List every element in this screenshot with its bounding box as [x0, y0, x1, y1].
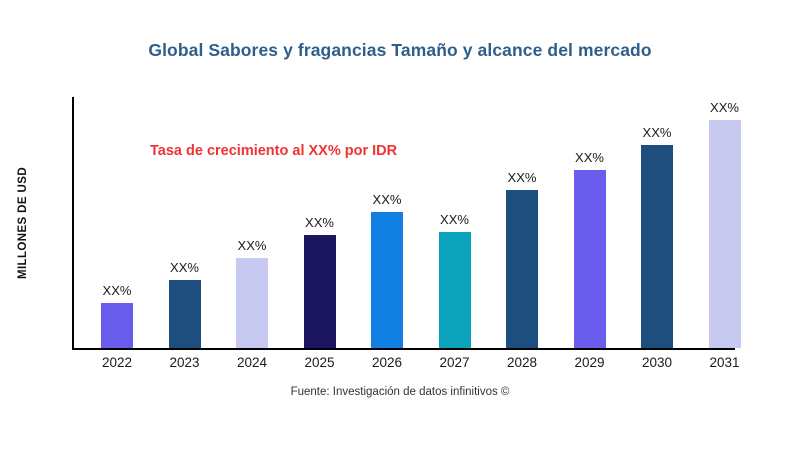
bar-chart-figure: Global Sabores y fragancias Tamaño y alc… [0, 0, 800, 450]
bar-rect[interactable] [304, 235, 336, 348]
bar-rect[interactable] [574, 170, 606, 348]
y-axis-label: MILLONES DE USD [14, 98, 32, 348]
bar-rect[interactable] [641, 145, 673, 348]
bar-value-label: XX% [238, 238, 267, 253]
bar-rect[interactable] [101, 303, 133, 348]
bar-value-label: XX% [575, 150, 604, 165]
bar-value-label: XX% [170, 260, 199, 275]
x-tick-2022: 2022 [87, 355, 147, 370]
x-tick-2024: 2024 [222, 355, 282, 370]
source-note: Fuente: Investigación de datos infinitiv… [0, 386, 800, 398]
bar-2026[interactable]: XX% [371, 212, 403, 348]
bar-2030[interactable]: XX% [641, 145, 673, 348]
bar-value-label: XX% [373, 192, 402, 207]
x-tick-2027: 2027 [425, 355, 485, 370]
x-axis-line [72, 348, 735, 350]
bar-value-label: XX% [508, 170, 537, 185]
bar-2022[interactable]: XX% [101, 303, 133, 348]
x-tick-2028: 2028 [492, 355, 552, 370]
plot-area: XX%XX%XX%XX%XX%XX%XX%XX%XX%XX% [72, 98, 788, 348]
x-tick-2025: 2025 [290, 355, 350, 370]
bar-rect[interactable] [371, 212, 403, 348]
x-tick-2031: 2031 [695, 355, 755, 370]
bar-2031[interactable]: XX% [709, 120, 741, 348]
x-tick-2029: 2029 [560, 355, 620, 370]
bar-value-label: XX% [440, 212, 469, 227]
bar-rect[interactable] [709, 120, 741, 348]
x-tick-2026: 2026 [357, 355, 417, 370]
growth-rate-annotation: Tasa de crecimiento al XX% por IDR [150, 143, 397, 159]
bar-value-label: XX% [305, 215, 334, 230]
y-axis-label-text: MILLONES DE USD [17, 167, 29, 279]
bar-value-label: XX% [643, 125, 672, 140]
bar-rect[interactable] [169, 280, 201, 348]
bar-2023[interactable]: XX% [169, 280, 201, 348]
bar-rect[interactable] [439, 232, 471, 348]
bar-2025[interactable]: XX% [304, 235, 336, 348]
bar-value-label: XX% [103, 283, 132, 298]
bar-2029[interactable]: XX% [574, 170, 606, 348]
x-tick-2023: 2023 [155, 355, 215, 370]
x-tick-2030: 2030 [627, 355, 687, 370]
bar-2024[interactable]: XX% [236, 258, 268, 348]
chart-title: Global Sabores y fragancias Tamaño y alc… [0, 40, 800, 61]
bar-rect[interactable] [236, 258, 268, 348]
bar-2027[interactable]: XX% [439, 232, 471, 348]
bar-rect[interactable] [506, 190, 538, 348]
bar-2028[interactable]: XX% [506, 190, 538, 348]
bar-value-label: XX% [710, 100, 739, 115]
